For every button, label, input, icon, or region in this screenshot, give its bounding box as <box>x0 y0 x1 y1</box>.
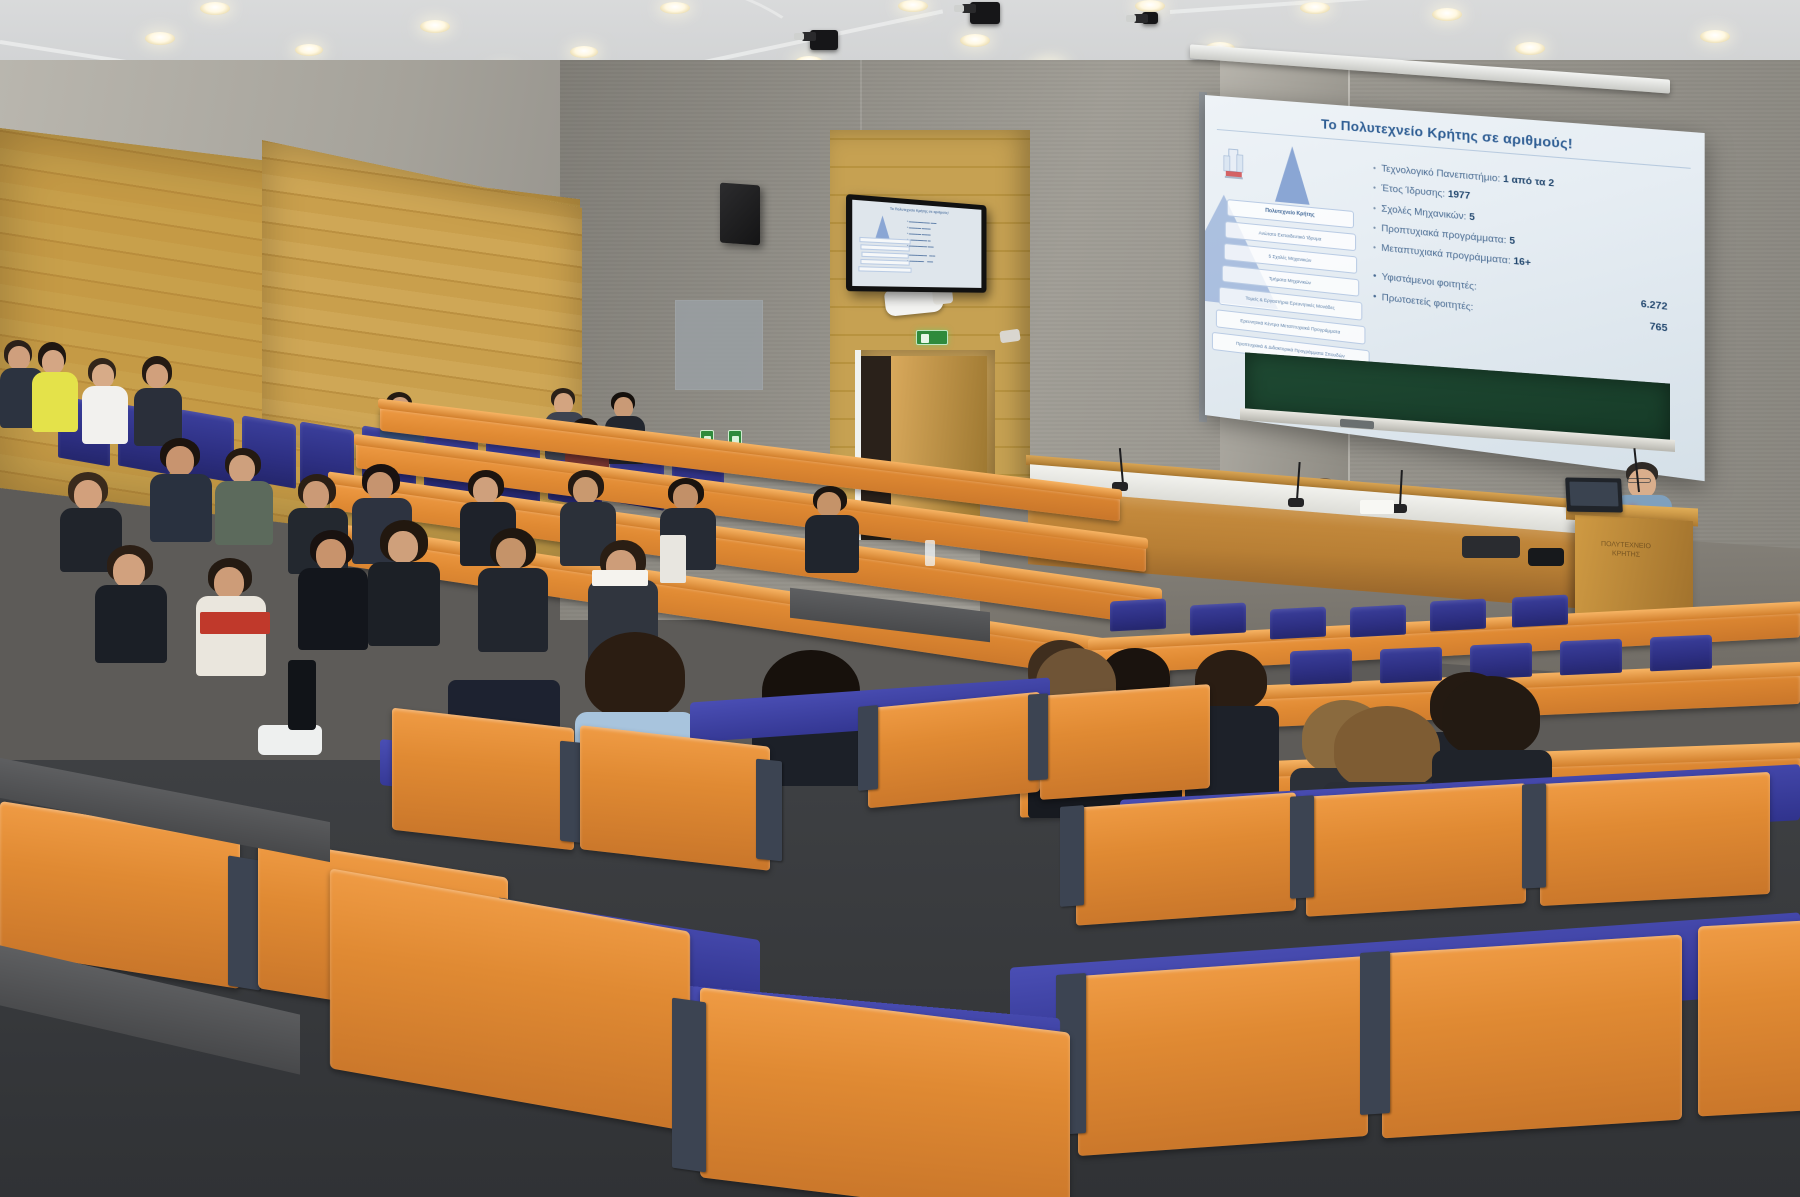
desk-bracket <box>1290 795 1314 898</box>
head <box>42 350 64 374</box>
head <box>214 567 244 599</box>
monitor-tier <box>860 259 909 266</box>
head <box>473 477 498 504</box>
audience-member <box>478 528 548 652</box>
ceiling-downlight <box>1515 42 1545 55</box>
monitor-tier <box>859 237 910 245</box>
torso <box>82 386 128 444</box>
monitor-tier <box>858 266 911 273</box>
hair <box>585 632 685 718</box>
head <box>229 455 255 483</box>
presenter-head <box>1628 469 1656 498</box>
ceiling-downlight <box>898 0 928 12</box>
lectern-nameplate: ΠΟΛΥΤΕΧΝΕΙΟ ΚΡΗΤΗΣ <box>1588 540 1664 568</box>
head <box>367 472 393 500</box>
ceiling-downlight <box>420 20 450 33</box>
ceiling-downlight <box>145 32 175 45</box>
torso <box>298 568 368 650</box>
head <box>673 484 698 510</box>
ceiling-downlight <box>1700 30 1730 43</box>
head <box>92 364 114 388</box>
bullet-dot-icon: • <box>1373 244 1376 253</box>
seat-back[interactable] <box>1110 599 1166 632</box>
monitor-tier <box>860 244 909 251</box>
head <box>166 446 194 476</box>
red-folder <box>200 612 270 634</box>
ceiling-downlight <box>200 2 230 15</box>
head <box>496 538 526 570</box>
wall-speaker-icon <box>720 183 760 246</box>
bullet-dot-icon: • <box>1373 271 1376 282</box>
monitor-pyramid-icon <box>876 215 890 238</box>
paper-sheet <box>592 570 648 586</box>
audience-member <box>32 342 78 434</box>
desk-panel <box>392 708 574 851</box>
desk-panel <box>1040 684 1210 800</box>
hair <box>1334 706 1440 790</box>
torso <box>368 562 440 646</box>
torso <box>215 481 273 545</box>
pyramid-apex-icon <box>1275 145 1310 205</box>
audience-member <box>805 486 859 574</box>
wall-access-panel <box>675 300 763 390</box>
desk-panel <box>1540 772 1770 906</box>
wall-monitor-screen: Το Πολυτεχνείο Κρήτης σε αριθμούς! • ▬▬▬… <box>852 200 981 288</box>
ceiling-downlight <box>1135 0 1165 12</box>
torso <box>95 585 167 663</box>
ceiling-downlight <box>1300 2 1330 14</box>
ceiling-downlight <box>660 2 690 14</box>
wall-monitor[interactable]: Το Πολυτεχνείο Κρήτης σε αριθμούς! • ▬▬▬… <box>846 194 986 293</box>
audience-member <box>215 448 273 546</box>
seat-back[interactable] <box>1190 603 1246 636</box>
head <box>146 364 168 388</box>
seat-back[interactable] <box>1290 649 1352 686</box>
bullet-dot-icon: • <box>1373 184 1376 193</box>
desk-bracket <box>1360 951 1390 1115</box>
desk-bracket <box>228 855 260 990</box>
desk-panel <box>1078 956 1368 1156</box>
bullet-dot-icon: • <box>1373 224 1376 233</box>
desk-bracket <box>1522 783 1546 888</box>
ceiling-downlight <box>960 34 990 47</box>
audience-member <box>82 358 128 448</box>
desk-panel <box>1076 792 1296 925</box>
track-spotlight <box>810 30 838 50</box>
head <box>554 393 573 414</box>
desk-panel <box>1382 935 1682 1139</box>
torso <box>196 596 266 676</box>
desk-panel <box>868 692 1040 809</box>
head <box>113 554 145 588</box>
seat-back[interactable] <box>1350 605 1406 638</box>
head <box>817 492 841 517</box>
tuc-logo-icon <box>1221 146 1247 182</box>
slide-bullet-list: • Τεχνολογικό Πανεπιστήμιο: 1 από τα 2 •… <box>1373 149 1693 348</box>
audience-member <box>150 438 212 542</box>
desk-bracket <box>1028 693 1048 780</box>
desk-panel <box>1698 918 1800 1117</box>
head <box>8 346 30 370</box>
torso <box>805 515 859 573</box>
lecture-hall-scene: Το Πολυτεχνείο Κρήτης σε αριθμούς! • ▬▬▬… <box>0 0 1800 1197</box>
bullet-dot-icon: • <box>1373 164 1376 172</box>
desk-bracket <box>756 759 782 862</box>
head <box>388 531 418 563</box>
notebook <box>660 535 686 583</box>
torso <box>478 568 548 652</box>
camera-bag <box>1462 536 1520 558</box>
desk-bracket <box>858 705 878 791</box>
exit-sign-icon <box>916 330 948 345</box>
paper-sheet <box>1360 500 1394 514</box>
head <box>316 539 346 571</box>
seat-back[interactable] <box>1650 635 1712 672</box>
torso <box>150 474 212 542</box>
audience-member <box>134 356 182 448</box>
microphone-base <box>1288 498 1304 507</box>
presenter-laptop[interactable] <box>1565 477 1623 512</box>
seat-back[interactable] <box>1560 639 1622 676</box>
equipment-case <box>1528 548 1564 566</box>
ceiling-downlight <box>1432 8 1462 21</box>
ceiling-downlight <box>570 46 598 58</box>
desk-bracket <box>672 998 706 1173</box>
ceiling-downlight <box>295 44 323 56</box>
track-spotlight <box>970 2 1000 24</box>
audience-member <box>368 520 440 646</box>
bullet-dot-icon: • <box>1373 292 1376 303</box>
head <box>74 480 102 510</box>
water-bottle <box>925 540 935 566</box>
desk-bracket <box>1060 805 1084 907</box>
trouser-leg <box>288 660 316 730</box>
torso <box>32 372 78 432</box>
desk-panel <box>1306 783 1526 916</box>
hair <box>1442 676 1540 756</box>
head <box>303 481 329 510</box>
monitor-bullet-list: • ▬▬▬▬▬▬▬ ▬▬ • ▬▬▬▬ ▬▬▬ • ▬▬▬▬ ▬▬▬ • ▬▬▬… <box>907 218 978 266</box>
track-spotlight <box>1142 12 1158 24</box>
monitor-tier <box>861 252 908 259</box>
head <box>573 477 598 504</box>
head <box>614 397 633 418</box>
desk-panel <box>580 725 770 871</box>
seat-back[interactable] <box>1512 595 1568 628</box>
audience-member <box>95 545 167 663</box>
seat-back[interactable] <box>1270 607 1326 640</box>
seat-back[interactable] <box>1430 599 1486 632</box>
audience-member <box>298 530 368 650</box>
slide-diagram: Πολυτεχνείο Κρήτης Ανώτατο Εκπαιδευτικό … <box>1215 136 1367 312</box>
bullet-dot-icon: • <box>1373 204 1376 213</box>
